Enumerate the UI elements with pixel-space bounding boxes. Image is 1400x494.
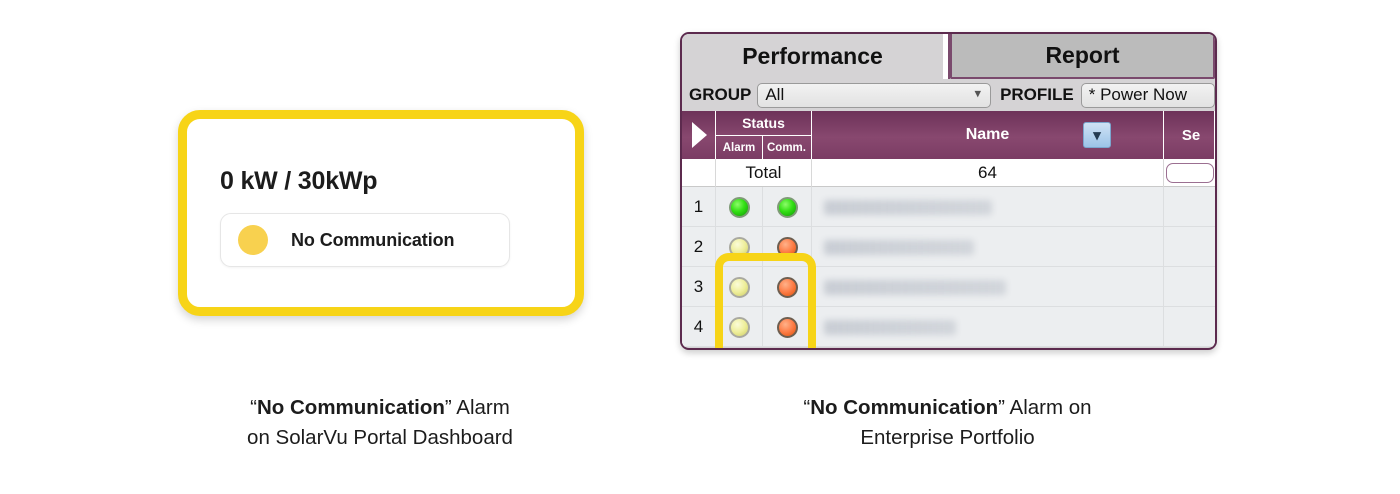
filter-bar: GROUP All ▾ PROFILE * Power Now [682,79,1215,111]
header-name-label: Name [966,126,1010,144]
no-communication-alarm-pill[interactable]: No Communication [220,213,510,267]
site-name-cell[interactable] [812,307,1164,347]
redacted-site-name [824,280,1006,295]
alarm-status-cell[interactable] [716,227,763,267]
total-label-cell: Total [716,159,812,187]
caption-right-line2: Enterprise Portfolio [860,426,1034,449]
row-select-cell[interactable] [1164,187,1215,227]
group-select[interactable]: All ▾ [757,83,991,108]
site-name-cell[interactable] [812,227,1164,267]
caption-left-line2: on SolarVu Portal Dashboard [247,426,513,449]
enterprise-portfolio-figure: Performance Report GROUP All ▾ PROFILE *… [680,32,1217,350]
profile-select[interactable]: * Power Now [1081,83,1215,108]
portfolio-panel: Performance Report GROUP All ▾ PROFILE *… [680,32,1217,350]
comm-status-cell[interactable] [763,307,812,347]
caption-left: “No Communication” Alarm on SolarVu Port… [180,393,580,453]
table-total-row: Total 64 [682,159,1215,187]
header-status-label: Status [716,111,811,136]
total-index-cell [682,159,716,187]
comm-status-cell[interactable] [763,227,812,267]
group-select-value: All [765,85,784,105]
row-select-cell[interactable] [1164,307,1215,347]
profile-label: PROFILE [1000,85,1074,105]
table-row[interactable]: 4 [682,307,1215,347]
alarm-status-cell[interactable] [716,307,763,347]
alarm-status-cell[interactable] [716,267,763,307]
orange-status-led-icon [777,277,798,298]
header-name-col: Name ▾ [812,111,1164,159]
row-index: 3 [682,267,716,307]
redacted-site-name [824,240,974,255]
orange-status-led-icon [777,317,798,338]
header-alarm-label: Alarm [716,136,763,159]
pale-status-led-icon [729,237,750,258]
green-status-led-icon [729,197,750,218]
caption-left-rest: Alarm [452,396,510,419]
table-row[interactable]: 3 [682,267,1215,307]
header-status-col: Status Alarm Comm. [716,111,812,159]
tab-performance[interactable]: Performance [682,34,943,79]
yellow-status-dot-icon [238,225,268,255]
caption-right-quoted: No Communication [810,396,998,419]
comm-status-cell[interactable] [763,187,812,227]
table-body: 1234 [682,187,1215,347]
row-select-cell[interactable] [1164,267,1215,307]
total-count-cell: 64 [812,159,1164,187]
name-sort-dropdown-icon[interactable]: ▾ [1083,122,1111,148]
row-index: 2 [682,227,716,267]
pale-status-led-icon [729,277,750,298]
caption-left-line1: “No Communication” Alarm [250,396,510,419]
portfolio-table: Status Alarm Comm. Name ▾ Se Total 64 [682,111,1215,347]
group-label: GROUP [689,85,751,105]
comm-status-cell[interactable] [763,267,812,307]
row-select-cell[interactable] [1164,227,1215,267]
caption-right-rest: Alarm on [1005,396,1092,419]
caption-right: “No Communication” Alarm on Enterprise P… [735,393,1160,453]
tab-divider [943,34,950,79]
site-name-cell[interactable] [812,187,1164,227]
solarvu-dashboard-figure: 0 kW / 30kWp No Communication [178,110,584,316]
redacted-site-name [824,200,992,215]
row-index: 1 [682,187,716,227]
header-select-col: Se [1164,111,1215,159]
profile-select-value: * Power Now [1089,85,1187,105]
alarm-status-cell[interactable] [716,187,763,227]
alarm-pill-label: No Communication [291,230,454,251]
table-header-row: Status Alarm Comm. Name ▾ Se [682,111,1215,159]
power-readout: 0 kW / 30kWp [220,167,377,196]
header-comm-label: Comm. [763,136,810,159]
expand-triangle-icon[interactable] [692,122,707,148]
caption-right-line1: “No Communication” Alarm on [803,396,1091,419]
site-name-cell[interactable] [812,267,1164,307]
dashboard-card: 0 kW / 30kWp No Communication [178,110,584,316]
caption-left-quoted: No Communication [257,396,445,419]
pale-status-led-icon [729,317,750,338]
row-index: 4 [682,307,716,347]
table-row[interactable]: 2 [682,227,1215,267]
total-select-box[interactable] [1166,163,1214,183]
green-status-led-icon [777,197,798,218]
tab-report[interactable]: Report [950,34,1215,79]
orange-status-led-icon [777,237,798,258]
table-row[interactable]: 1 [682,187,1215,227]
redacted-site-name [824,320,956,335]
tab-strip: Performance Report [682,34,1215,79]
total-select-cell [1164,159,1215,187]
chevron-down-icon: ▾ [975,85,982,101]
header-index-col [682,111,716,159]
